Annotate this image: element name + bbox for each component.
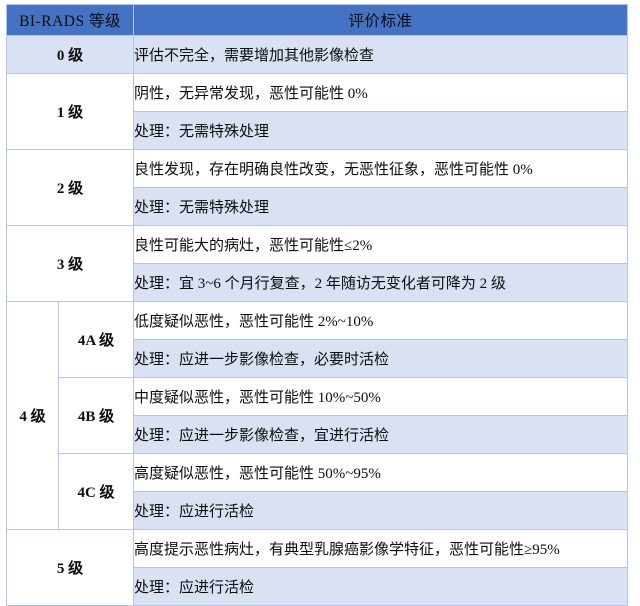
table-row-grade-4c: 4C 级 高度疑似恶性，恶性可能性 50%~95% [7, 454, 628, 492]
table-row-grade-5: 5 级 高度提示恶性病灶，有典型乳腺癌影像学特征，恶性可能性≥95% [7, 530, 628, 568]
birads-classification-table: BI-RADS 等级 评价标准 0 级 评估不完全，需要增加其他影像检查 1 级… [6, 4, 628, 606]
criteria-text-0: 评估不完全，需要增加其他影像检查 [134, 36, 628, 74]
management-text-3: 处理：宜 3~6 个月行复查，2 年随访无变化者可降为 2 级 [134, 264, 628, 302]
subgrade-label-4c: 4C 级 [59, 454, 134, 530]
table-row-grade-0: 0 级 评估不完全，需要增加其他影像检查 [7, 36, 628, 74]
table-row-grade-1: 1 级 阴性，无异常发现，恶性可能性 0% [7, 74, 628, 112]
grade-label-1: 1 级 [7, 74, 134, 150]
grade-label-3: 3 级 [7, 226, 134, 302]
grade-label-4: 4 级 [7, 302, 59, 530]
criteria-text-4c: 高度疑似恶性，恶性可能性 50%~95% [134, 454, 628, 492]
header-grade-label: BI-RADS 等级 [7, 5, 134, 36]
criteria-text-1: 阴性，无异常发现，恶性可能性 0% [134, 74, 628, 112]
criteria-text-4b: 中度疑似恶性，恶性可能性 10%~50% [134, 378, 628, 416]
table-row-grade-3: 3 级 良性可能大的病灶，恶性可能性≤2% [7, 226, 628, 264]
table-row-grade-2: 2 级 良性发现，存在明确良性改变，无恶性征象，恶性可能性 0% [7, 150, 628, 188]
grade-label-2: 2 级 [7, 150, 134, 226]
subgrade-label-4b: 4B 级 [59, 378, 134, 454]
criteria-text-5: 高度提示恶性病灶，有典型乳腺癌影像学特征，恶性可能性≥95% [134, 530, 628, 568]
table-row-grade-4a: 4 级 4A 级 低度疑似恶性，恶性可能性 2%~10% [7, 302, 628, 340]
management-text-5: 处理：应进行活检 [134, 568, 628, 606]
grade-label-0: 0 级 [7, 36, 134, 74]
grade-label-5: 5 级 [7, 530, 134, 606]
management-text-4c: 处理：应进行活检 [134, 492, 628, 530]
management-text-2: 处理：无需特殊处理 [134, 188, 628, 226]
table-header-row: BI-RADS 等级 评价标准 [7, 5, 628, 36]
management-text-4a: 处理：应进一步影像检查，必要时活检 [134, 340, 628, 378]
management-text-4b: 处理：应进一步影像检查，宜进行活检 [134, 416, 628, 454]
header-criteria-label: 评价标准 [134, 5, 628, 36]
management-text-1: 处理：无需特殊处理 [134, 112, 628, 150]
criteria-text-4a: 低度疑似恶性，恶性可能性 2%~10% [134, 302, 628, 340]
subgrade-label-4a: 4A 级 [59, 302, 134, 378]
criteria-text-3: 良性可能大的病灶，恶性可能性≤2% [134, 226, 628, 264]
table-row-grade-4b: 4B 级 中度疑似恶性，恶性可能性 10%~50% [7, 378, 628, 416]
criteria-text-2: 良性发现，存在明确良性改变，无恶性征象，恶性可能性 0% [134, 150, 628, 188]
